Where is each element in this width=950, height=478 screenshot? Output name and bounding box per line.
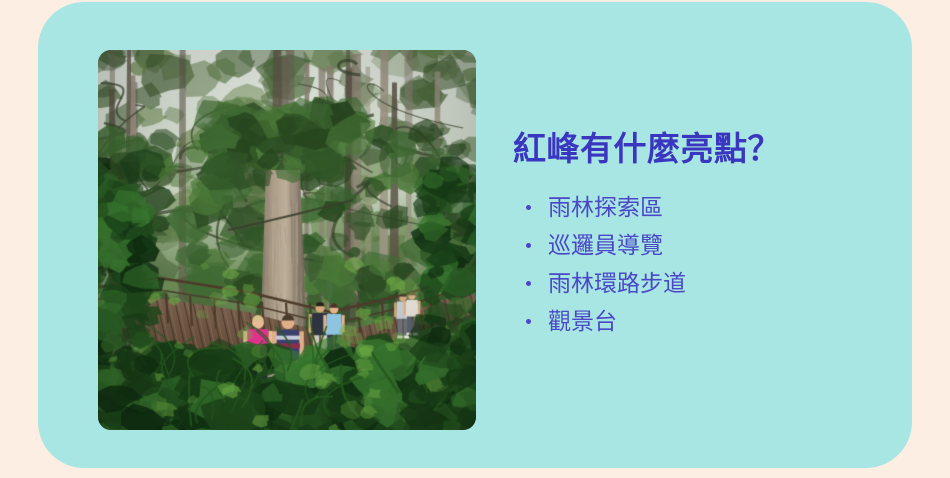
list-item-label: 巡邏員導覽 xyxy=(548,232,663,258)
list-item: 雨林探索區 xyxy=(513,195,903,220)
text-content: 紅峰有什麼亮點？ 雨林探索區 巡邏員導覽 雨林環路步道 觀景台 xyxy=(513,128,903,334)
bullet-dot-icon xyxy=(526,243,531,248)
bullet-dot-icon xyxy=(526,205,531,210)
rainforest-photo-canvas xyxy=(98,50,476,430)
list-item: 觀景台 xyxy=(513,309,903,334)
list-item-label: 雨林探索區 xyxy=(548,194,663,220)
list-item: 雨林環路步道 xyxy=(513,271,903,296)
rainforest-boardwalk-photo xyxy=(98,50,476,430)
bullet-dot-icon xyxy=(526,319,531,324)
list-item: 巡邏員導覽 xyxy=(513,233,903,258)
highlights-list: 雨林探索區 巡邏員導覽 雨林環路步道 觀景台 xyxy=(513,195,903,333)
list-item-label: 雨林環路步道 xyxy=(548,270,686,296)
page-title: 紅峰有什麼亮點？ xyxy=(513,128,903,169)
list-item-label: 觀景台 xyxy=(548,308,617,334)
bullet-dot-icon xyxy=(526,281,531,286)
slide-root: 紅峰有什麼亮點？ 雨林探索區 巡邏員導覽 雨林環路步道 觀景台 xyxy=(0,0,950,478)
slide-card: 紅峰有什麼亮點？ 雨林探索區 巡邏員導覽 雨林環路步道 觀景台 xyxy=(38,2,912,468)
